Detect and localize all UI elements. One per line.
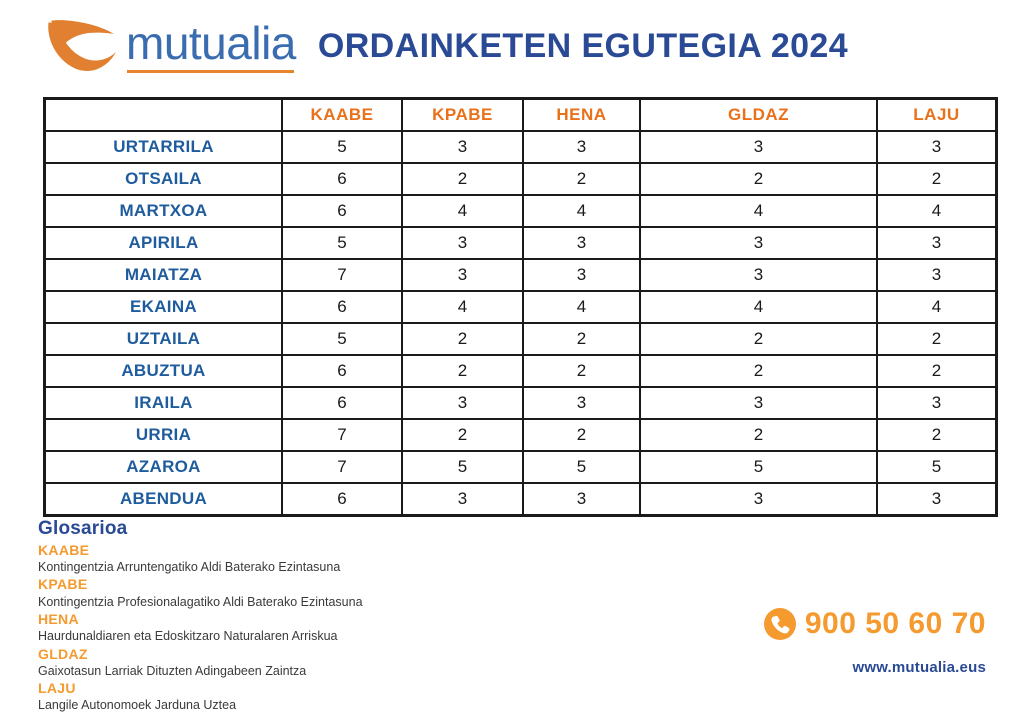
glossary-term: KAABE <box>38 542 638 559</box>
cell-hena: 3 <box>523 131 640 163</box>
cell-kaabe: 7 <box>282 419 402 451</box>
column-header-laju: LAJU <box>877 99 997 132</box>
table-row: APIRILA53333 <box>45 227 997 259</box>
month-label: ABENDUA <box>45 483 283 516</box>
month-label: OTSAILA <box>45 163 283 195</box>
glossary-definition: Haurdunaldiaren eta Edoskitzaro Naturala… <box>38 628 638 645</box>
cell-hena: 2 <box>523 355 640 387</box>
cell-gldaz: 3 <box>640 259 877 291</box>
cell-kpabe: 2 <box>402 163 523 195</box>
contact-block: 900 50 60 70 www.mutualia.eus <box>706 608 986 676</box>
table-header: KAABE KPABE HENA GLDAZ LAJU <box>45 99 997 132</box>
cell-gldaz: 4 <box>640 195 877 227</box>
column-header-kpabe: KPABE <box>402 99 523 132</box>
cell-kaabe: 7 <box>282 451 402 483</box>
cell-gldaz: 5 <box>640 451 877 483</box>
cell-gldaz: 3 <box>640 131 877 163</box>
column-header-kaabe: KAABE <box>282 99 402 132</box>
glossary-title: Glosarioa <box>38 518 638 540</box>
month-label: AZAROA <box>45 451 283 483</box>
cell-kpabe: 2 <box>402 355 523 387</box>
table-row: ABENDUA63333 <box>45 483 997 516</box>
cell-kaabe: 6 <box>282 291 402 323</box>
cell-laju: 2 <box>877 419 997 451</box>
glossary-definition: Kontingentzia Arruntengatiko Aldi Batera… <box>38 559 638 576</box>
table-row: UZTAILA52222 <box>45 323 997 355</box>
month-label: APIRILA <box>45 227 283 259</box>
cell-hena: 2 <box>523 323 640 355</box>
cell-laju: 3 <box>877 131 997 163</box>
cell-laju: 3 <box>877 483 997 516</box>
cell-hena: 3 <box>523 387 640 419</box>
cell-gldaz: 4 <box>640 291 877 323</box>
cell-gldaz: 2 <box>640 419 877 451</box>
cell-kpabe: 3 <box>402 387 523 419</box>
month-label: URTARRILA <box>45 131 283 163</box>
cell-laju: 2 <box>877 355 997 387</box>
cell-kaabe: 6 <box>282 355 402 387</box>
cell-kaabe: 5 <box>282 227 402 259</box>
cell-hena: 2 <box>523 163 640 195</box>
cell-kaabe: 6 <box>282 195 402 227</box>
glossary-term: KPABE <box>38 576 638 593</box>
column-header-hena: HENA <box>523 99 640 132</box>
cell-kaabe: 6 <box>282 483 402 516</box>
cell-laju: 2 <box>877 163 997 195</box>
page-header: mutualia ORDAINKETEN EGUTEGIA 2024 <box>0 0 1024 92</box>
cell-hena: 5 <box>523 451 640 483</box>
cell-laju: 5 <box>877 451 997 483</box>
cell-kaabe: 6 <box>282 387 402 419</box>
month-label: MAIATZA <box>45 259 283 291</box>
brand-wordmark: mutualia <box>126 20 296 66</box>
month-label: EKAINA <box>45 291 283 323</box>
cell-laju: 3 <box>877 227 997 259</box>
table-body: URTARRILA53333OTSAILA62222MARTXOA64444AP… <box>45 131 997 516</box>
brand-wordmark-wrap: mutualia <box>126 20 296 73</box>
month-label: UZTAILA <box>45 323 283 355</box>
cell-kpabe: 3 <box>402 227 523 259</box>
cell-kpabe: 4 <box>402 291 523 323</box>
mutualia-swoosh-icon <box>36 15 122 77</box>
cell-hena: 3 <box>523 227 640 259</box>
website-link[interactable]: www.mutualia.eus <box>706 659 986 676</box>
cell-kaabe: 6 <box>282 163 402 195</box>
cell-laju: 4 <box>877 291 997 323</box>
cell-hena: 4 <box>523 291 640 323</box>
brand-logo[interactable]: mutualia <box>36 15 296 77</box>
cell-kpabe: 3 <box>402 483 523 516</box>
payment-calendar-table: KAABE KPABE HENA GLDAZ LAJU URTARRILA533… <box>43 97 998 517</box>
cell-gldaz: 3 <box>640 387 877 419</box>
cell-kpabe: 3 <box>402 131 523 163</box>
table-row: IRAILA63333 <box>45 387 997 419</box>
table-row: EKAINA64444 <box>45 291 997 323</box>
cell-kpabe: 2 <box>402 323 523 355</box>
cell-gldaz: 3 <box>640 483 877 516</box>
cell-gldaz: 2 <box>640 163 877 195</box>
cell-laju: 4 <box>877 195 997 227</box>
column-header-gldaz: GLDAZ <box>640 99 877 132</box>
glossary-section: Glosarioa KAABEKontingentzia Arruntengat… <box>38 518 638 715</box>
cell-kaabe: 5 <box>282 131 402 163</box>
glossary-term: GLDAZ <box>38 646 638 663</box>
glossary-list: KAABEKontingentzia Arruntengatiko Aldi B… <box>38 542 638 714</box>
table-row: URTARRILA53333 <box>45 131 997 163</box>
column-header-month <box>45 99 283 132</box>
cell-laju: 2 <box>877 323 997 355</box>
cell-hena: 2 <box>523 419 640 451</box>
table-row: URRIA72222 <box>45 419 997 451</box>
cell-kaabe: 7 <box>282 259 402 291</box>
cell-kaabe: 5 <box>282 323 402 355</box>
table-row: MAIATZA73333 <box>45 259 997 291</box>
cell-kpabe: 5 <box>402 451 523 483</box>
table-row: ABUZTUA62222 <box>45 355 997 387</box>
month-label: MARTXOA <box>45 195 283 227</box>
cell-gldaz: 2 <box>640 323 877 355</box>
cell-laju: 3 <box>877 259 997 291</box>
glossary-term: LAJU <box>38 680 638 697</box>
month-label: ABUZTUA <box>45 355 283 387</box>
table-row: AZAROA75555 <box>45 451 997 483</box>
wordmark-underline <box>127 70 294 73</box>
glossary-term: HENA <box>38 611 638 628</box>
phone-number[interactable]: 900 50 60 70 <box>805 609 986 639</box>
cell-gldaz: 3 <box>640 227 877 259</box>
payment-calendar-table-wrap: KAABE KPABE HENA GLDAZ LAJU URTARRILA533… <box>43 97 982 517</box>
glossary-definition: Kontingentzia Profesionalagatiko Aldi Ba… <box>38 594 638 611</box>
cell-kpabe: 2 <box>402 419 523 451</box>
cell-kpabe: 4 <box>402 195 523 227</box>
cell-kpabe: 3 <box>402 259 523 291</box>
page-title: ORDAINKETEN EGUTEGIA 2024 <box>318 27 848 66</box>
month-label: URRIA <box>45 419 283 451</box>
phone-row[interactable]: 900 50 60 70 <box>706 608 986 640</box>
glossary-definition: Langile Autonomoek Jarduna Uztea <box>38 697 638 714</box>
table-header-row: KAABE KPABE HENA GLDAZ LAJU <box>45 99 997 132</box>
cell-hena: 3 <box>523 483 640 516</box>
glossary-definition: Gaixotasun Larriak Dituzten Adingabeen Z… <box>38 663 638 680</box>
cell-laju: 3 <box>877 387 997 419</box>
cell-gldaz: 2 <box>640 355 877 387</box>
cell-hena: 3 <box>523 259 640 291</box>
table-row: OTSAILA62222 <box>45 163 997 195</box>
table-row: MARTXOA64444 <box>45 195 997 227</box>
cell-hena: 4 <box>523 195 640 227</box>
phone-icon <box>764 608 796 640</box>
month-label: IRAILA <box>45 387 283 419</box>
